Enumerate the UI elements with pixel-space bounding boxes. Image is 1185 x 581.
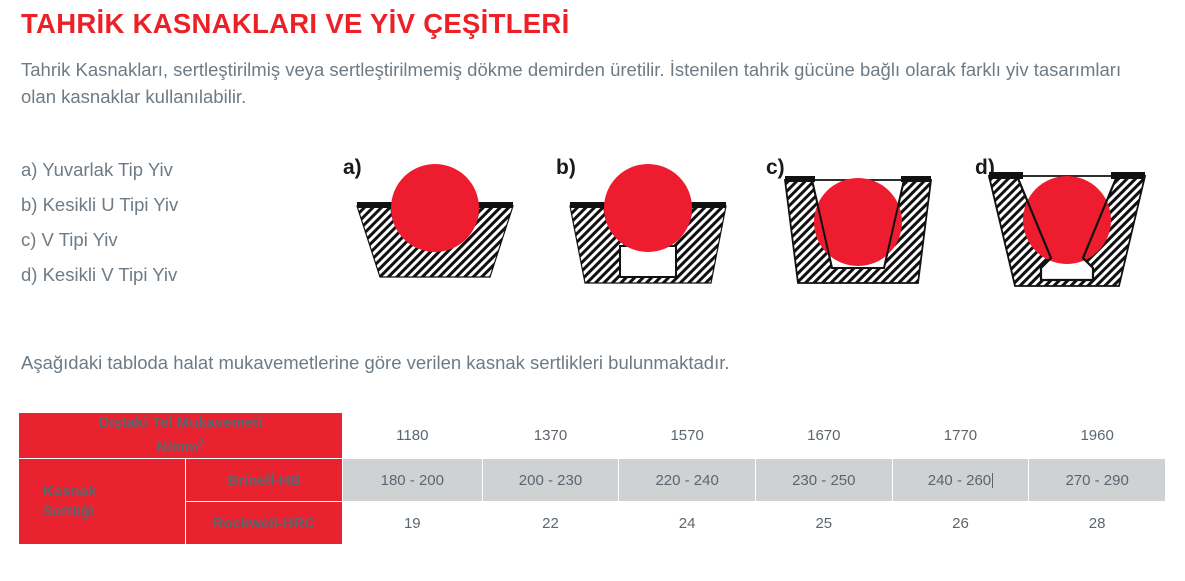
header-wire-strength-unit: N/mm	[157, 439, 199, 456]
top-edge-right	[688, 202, 726, 208]
row-label-brinell: Brinell-HB	[186, 459, 343, 502]
brinell-cell: 230 - 250	[755, 459, 892, 502]
figure-round-groove: a)	[335, 150, 535, 300]
table-row-brinell: Kasnak Sertliği Brinell-HB 180 - 200 200…	[19, 459, 1166, 502]
rope-circle	[391, 164, 479, 252]
rockwell-cell: 19	[342, 502, 482, 545]
top-edge-right	[477, 202, 513, 208]
wire-strength-cell: 1670	[755, 413, 892, 459]
table-row-header: Dıştaki Tel Mukavemeti N/mm2 1180 1370 1…	[19, 413, 1166, 459]
row-label-rockwell: Rockwell-HRC	[186, 502, 343, 545]
header-pulley-hardness-line1: Kasnak	[43, 483, 96, 500]
brinell-cell-with-caret: 240 - 260	[892, 459, 1029, 502]
table-row-rockwell: Rockwell-HRC 19 22 24 25 26 28	[19, 502, 1166, 545]
rope-circle	[604, 164, 692, 252]
brinell-cell: 180 - 200	[342, 459, 482, 502]
figure-undercut-v-groove: d)	[967, 150, 1167, 300]
brinell-cell: 200 - 230	[482, 459, 619, 502]
brinell-cell: 220 - 240	[619, 459, 756, 502]
header-pulley-hardness-line2: Sertliği	[43, 503, 94, 520]
wire-strength-cell: 1180	[342, 413, 482, 459]
groove-type-legend: a) Yuvarlak Tip Yiv b) Kesikli U Tipi Yi…	[21, 152, 321, 292]
top-edge-left	[785, 176, 815, 182]
top-edge-left	[357, 202, 393, 208]
figure-undercut-u-groove: b)	[548, 150, 748, 300]
wire-strength-cell: 1370	[482, 413, 619, 459]
header-pulley-hardness: Kasnak Sertliği	[19, 459, 186, 545]
brinell-cell-value: 240 - 260	[928, 472, 991, 489]
brinell-cell: 270 - 290	[1029, 459, 1166, 502]
figure-v-groove: c)	[758, 150, 958, 300]
undercut-v-groove-drawing	[967, 150, 1167, 300]
legend-item-d: d) Kesikli V Tipi Yiv	[21, 257, 321, 292]
legend-item-c: c) V Tipi Yiv	[21, 222, 321, 257]
rockwell-cell: 22	[482, 502, 619, 545]
rope-circle	[814, 178, 902, 266]
top-edge-left	[570, 202, 608, 208]
rockwell-cell: 28	[1029, 502, 1166, 545]
legend-item-a: a) Yuvarlak Tip Yiv	[21, 152, 321, 187]
header-wire-strength: Dıştaki Tel Mukavemeti N/mm2	[19, 413, 343, 459]
text-caret	[992, 473, 993, 488]
wire-strength-cell: 1570	[619, 413, 756, 459]
groove-diagrams: a) b)	[330, 150, 1170, 300]
legend-item-b: b) Kesikli U Tipi Yiv	[21, 187, 321, 222]
undercut-u-groove-drawing	[548, 150, 748, 300]
wire-strength-cell: 1770	[892, 413, 1029, 459]
top-edge-right	[901, 176, 931, 182]
v-groove-drawing	[758, 150, 958, 300]
header-wire-strength-label: Dıştaki Tel Mukavemeti	[99, 414, 263, 431]
rockwell-cell: 24	[619, 502, 756, 545]
intro-paragraph: Tahrik Kasnakları, sertleştirilmiş veya …	[21, 56, 1161, 110]
hardness-table-wrapper: Dıştaki Tel Mukavemeti N/mm2 1180 1370 1…	[18, 412, 1166, 545]
page-title: TAHRİK KASNAKLARI VE YİV ÇEŞİTLERİ	[21, 8, 570, 40]
document-page: TAHRİK KASNAKLARI VE YİV ÇEŞİTLERİ Tahri…	[0, 0, 1185, 581]
wire-strength-cell: 1960	[1029, 413, 1166, 459]
hardness-table: Dıştaki Tel Mukavemeti N/mm2 1180 1370 1…	[18, 412, 1166, 545]
rockwell-cell: 25	[755, 502, 892, 545]
header-wire-strength-unit-sup: 2	[198, 437, 204, 449]
table-intro-text: Aşağıdaki tabloda halat mukavemetlerine …	[21, 352, 730, 374]
rockwell-cell: 26	[892, 502, 1029, 545]
round-groove-drawing	[335, 150, 535, 300]
